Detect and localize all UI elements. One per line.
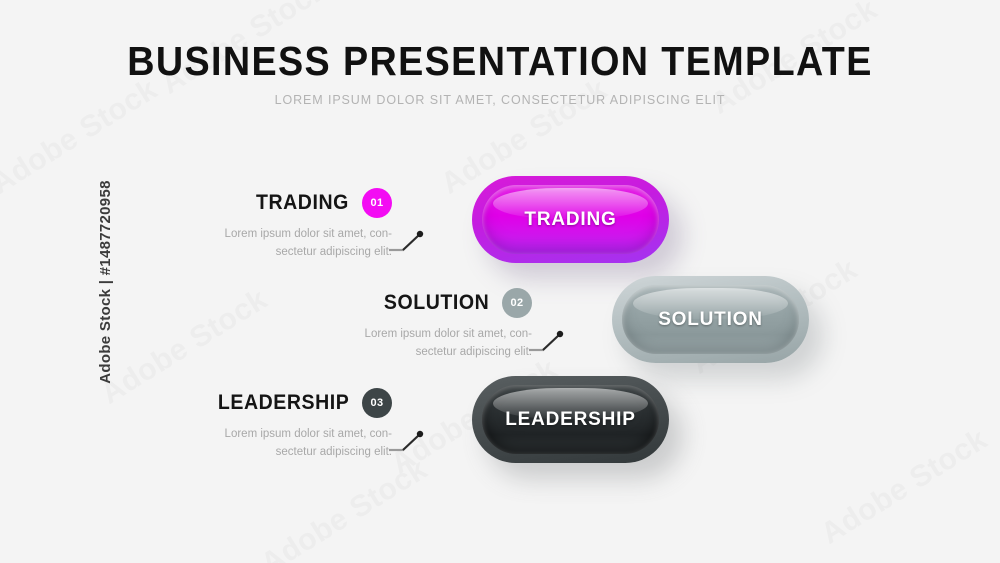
step-title-trading: TRADING [256, 191, 349, 215]
step-number-02: 02 [510, 297, 523, 309]
step-title-solution: SOLUTION [384, 291, 489, 315]
step-button-trading[interactable]: TRADING [472, 176, 669, 263]
step-button-label-solution: SOLUTION [658, 309, 763, 331]
step-number-01: 01 [370, 197, 383, 209]
step-description-trading: Lorem ipsum dolor sit amet, con-sectetur… [192, 226, 392, 262]
step-button-label-leadership: LEADERSHIP [505, 409, 635, 431]
step-button-face-trading: TRADING [482, 185, 659, 254]
page-subtitle: LOREM IPSUM DOLOR SIT AMET, CONSECTETUR … [0, 93, 1000, 107]
page-title: BUSINESS PRESENTATION TEMPLATE [40, 40, 960, 83]
stock-credit-label: Adobe Stock | #1487720958 [97, 180, 114, 383]
step-description-solution: Lorem ipsum dolor sit amet, con-sectetur… [332, 326, 532, 362]
watermark-tile: Adobe Stock [815, 423, 993, 552]
step-button-label-trading: TRADING [524, 209, 616, 231]
step-badge-02: 02 [502, 288, 532, 318]
header: BUSINESS PRESENTATION TEMPLATE LOREM IPS… [0, 40, 1000, 107]
step-heading-leadership: LEADERSHIP 03 [170, 388, 392, 418]
step-button-solution[interactable]: SOLUTION [612, 276, 809, 363]
connector-arrow-leadership [388, 426, 428, 456]
step-button-face-solution: SOLUTION [622, 285, 799, 354]
step-heading-trading: TRADING 01 [170, 188, 392, 218]
connector-arrow-trading [388, 226, 428, 256]
step-text-trading: TRADING 01 Lorem ipsum dolor sit amet, c… [170, 188, 392, 262]
watermark-tile: Adobe Stock [255, 453, 433, 563]
step-number-03: 03 [370, 397, 383, 409]
step-title-leadership: LEADERSHIP [218, 391, 349, 415]
step-description-leadership: Lorem ipsum dolor sit amet, con-sectetur… [192, 426, 392, 462]
slide-canvas: Adobe Stock Adobe Stock Adobe Stock Adob… [0, 0, 1000, 563]
step-text-leadership: LEADERSHIP 03 Lorem ipsum dolor sit amet… [170, 388, 392, 462]
step-button-face-leadership: LEADERSHIP [482, 385, 659, 454]
step-text-solution: SOLUTION 02 Lorem ipsum dolor sit amet, … [310, 288, 532, 362]
step-badge-01: 01 [362, 188, 392, 218]
connector-arrow-solution [528, 326, 568, 356]
step-heading-solution: SOLUTION 02 [310, 288, 532, 318]
step-button-leadership[interactable]: LEADERSHIP [472, 376, 669, 463]
step-badge-03: 03 [362, 388, 392, 418]
